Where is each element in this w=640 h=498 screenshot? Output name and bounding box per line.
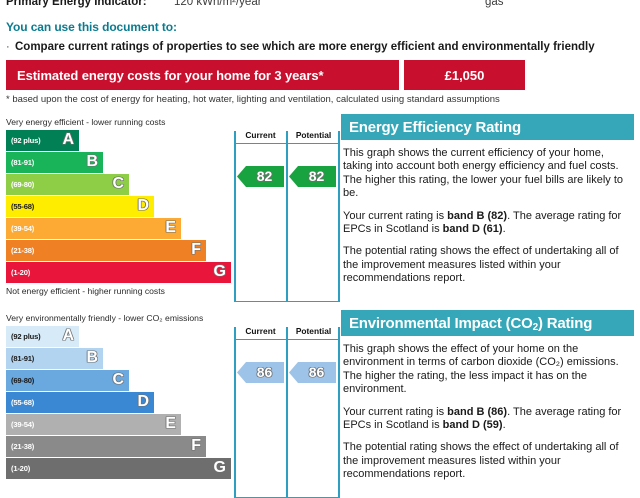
rating-band-b: (81-91)B xyxy=(6,152,103,173)
band-letter: B xyxy=(86,154,98,170)
energy-efficiency-rating-potential-value: 82 xyxy=(301,169,325,183)
energy-rating-prefix: Your current rating is xyxy=(343,210,447,222)
band-range-label: (81-91) xyxy=(11,158,34,167)
enviro-panel-paragraph-2: The potential rating shows the effect of… xyxy=(343,441,632,481)
rating-band-c: (69-80)C xyxy=(6,174,129,195)
band-range-label: (69-80) xyxy=(11,376,34,385)
rating-band-d: (55-68)D xyxy=(6,392,154,413)
band-letter: B xyxy=(86,350,98,366)
enviro-panel-title-main: Environmental Impact (CO xyxy=(349,315,533,332)
environmental-impact-co2-rating-potential-arrow: 86 xyxy=(289,362,336,383)
energy-panel-title: Energy Efficiency Rating xyxy=(349,119,521,136)
enviro-panel-paragraph-1: This graph shows the effect of your home… xyxy=(343,343,632,397)
enviro-average-band: band D (59) xyxy=(443,419,503,431)
energy-column-header-potential: Potential xyxy=(287,130,340,143)
energy-panel-header: Energy Efficiency Rating xyxy=(341,114,634,140)
band-range-label: (39-54) xyxy=(11,224,34,233)
energy-current-band: band B (82) xyxy=(447,210,507,222)
energy-panel-rating-sentence: Your current rating is band B (82). The … xyxy=(343,210,632,237)
environmental-impact-co2-rating-current-value: 86 xyxy=(249,365,273,379)
energy-column-header-current: Current xyxy=(234,130,287,143)
enviro-rating-prefix: Your current rating is xyxy=(343,406,447,418)
energy-graph-caption-bottom: Not energy efficient - higher running co… xyxy=(6,284,234,299)
band-letter: E xyxy=(165,220,176,236)
energy-panel-paragraph-1: This graph shows the current efficiency … xyxy=(343,147,632,201)
rating-band-f: (21-38)F xyxy=(6,436,206,457)
column-rule-mid xyxy=(286,131,288,301)
estimated-energy-costs-banner: Estimated energy costs for your home for… xyxy=(6,60,525,90)
band-range-label: (81-91) xyxy=(11,354,34,363)
band-range-label: (92 plus) xyxy=(11,332,40,341)
enviro-panel-title-subscript: 2 xyxy=(533,322,538,333)
estimated-energy-costs-value: £1,050 xyxy=(404,60,525,90)
energy-rating-suffix: . xyxy=(503,223,506,235)
energy-average-band: band D (61) xyxy=(443,223,503,235)
epc-page: Primary Energy Indicator: 120 kWh/m²/yea… xyxy=(0,0,640,480)
environmental-impact-co2-rating-current-arrow: 86 xyxy=(237,362,284,383)
energy-efficiency-graph: Very energy efficient - lower running co… xyxy=(6,116,234,299)
band-range-label: (1-20) xyxy=(11,464,30,473)
energy-panel-paragraph-2: The potential rating shows the effect of… xyxy=(343,245,632,285)
enviro-column-header-potential: Potential xyxy=(287,326,340,339)
environmental-impact-rating-panel: Environmental Impact (CO2) Rating This g… xyxy=(341,310,634,491)
rating-band-b: (81-91)B xyxy=(6,348,103,369)
enviro-panel-title-tail: ) Rating xyxy=(538,315,592,332)
enviro-panel-rating-sentence: Your current rating is band B (86). The … xyxy=(343,406,632,433)
band-letter: G xyxy=(214,264,226,280)
energy-graph-caption-top: Very energy efficient - lower running co… xyxy=(6,116,234,130)
energy-efficiency-rating-potential-arrow: 82 xyxy=(289,166,336,187)
band-range-label: (39-54) xyxy=(11,420,34,429)
rating-band-e: (39-54)E xyxy=(6,218,181,239)
bullet-marker-icon: · xyxy=(6,40,15,54)
rating-band-a: (92 plus)A xyxy=(6,326,79,347)
energy-efficiency-rating-panel: Energy Efficiency Rating This graph show… xyxy=(341,114,634,295)
main-fuel-value: gas xyxy=(485,0,504,8)
rating-band-d: (55-68)D xyxy=(6,196,154,217)
column-rule-right xyxy=(338,327,340,497)
enviro-column-body: 8686 xyxy=(234,339,340,498)
energy-column-body: 8282 xyxy=(234,143,340,302)
band-range-label: (1-20) xyxy=(11,268,30,277)
column-rule-left xyxy=(234,131,236,301)
column-rule-left xyxy=(234,327,236,497)
band-letter: A xyxy=(62,328,74,344)
column-rule-right xyxy=(338,131,340,301)
band-range-label: (69-80) xyxy=(11,180,34,189)
estimated-energy-costs-label: Estimated energy costs for your home for… xyxy=(6,60,399,90)
rating-band-g: (1-20)G xyxy=(6,262,231,283)
band-letter: F xyxy=(191,438,201,454)
energy-graph-columns: Current Potential 8282 xyxy=(234,130,340,302)
enviro-panel-title: Environmental Impact (CO2) Rating xyxy=(349,315,592,332)
rating-band-g: (1-20)G xyxy=(6,458,231,479)
band-range-label: (55-68) xyxy=(11,398,34,407)
energy-graph-bars: (92 plus)A(81-91)B(69-80)C(55-68)D(39-54… xyxy=(6,130,234,283)
primary-energy-indicator-label: Primary Energy Indicator: xyxy=(6,0,147,8)
enviro-current-band: band B (86) xyxy=(447,406,507,418)
energy-efficiency-rating-current-value: 82 xyxy=(249,169,273,183)
environmental-impact-co2-rating-potential-value: 86 xyxy=(301,365,325,379)
use-document-heading: You can use this document to: xyxy=(6,20,177,34)
band-letter: A xyxy=(62,132,74,148)
band-letter: D xyxy=(137,394,149,410)
enviro-graph-columns: Current Potential 8686 xyxy=(234,326,340,498)
column-rule-mid xyxy=(286,327,288,497)
energy-panel-body: This graph shows the current efficiency … xyxy=(341,140,634,286)
band-range-label: (21-38) xyxy=(11,442,34,451)
rating-band-e: (39-54)E xyxy=(6,414,181,435)
enviro-rating-suffix: . xyxy=(503,419,506,431)
rating-band-a: (92 plus)A xyxy=(6,130,79,151)
band-letter: E xyxy=(165,416,176,432)
band-letter: D xyxy=(137,198,149,214)
environmental-impact-graph: Very environmentally friendly - lower CO… xyxy=(6,312,234,480)
enviro-panel-body: This graph shows the effect of your home… xyxy=(341,336,634,482)
enviro-graph-bars: (92 plus)A(81-91)B(69-80)C(55-68)D(39-54… xyxy=(6,326,234,479)
band-range-label: (55-68) xyxy=(11,202,34,211)
enviro-graph-caption-top: Very environmentally friendly - lower CO… xyxy=(6,312,234,326)
band-range-label: (21-38) xyxy=(11,246,34,255)
band-range-label: (92 plus) xyxy=(11,136,40,145)
primary-energy-indicator-row: Primary Energy Indicator: 120 kWh/m²/yea… xyxy=(6,0,634,14)
rating-band-f: (21-38)F xyxy=(6,240,206,261)
enviro-panel-header: Environmental Impact (CO2) Rating xyxy=(341,310,634,336)
band-letter: C xyxy=(112,176,124,192)
band-letter: F xyxy=(191,242,201,258)
energy-efficiency-rating-current-arrow: 82 xyxy=(237,166,284,187)
use-document-bullet-item: · Compare current ratings of properties … xyxy=(6,40,636,54)
primary-energy-indicator-value: 120 kWh/m²/year xyxy=(174,0,262,8)
band-letter: C xyxy=(112,372,124,388)
enviro-column-header-current: Current xyxy=(234,326,287,339)
rating-band-c: (69-80)C xyxy=(6,370,129,391)
band-letter: G xyxy=(214,460,226,476)
estimated-energy-costs-footnote: * based upon the cost of energy for heat… xyxy=(6,94,500,105)
use-document-bullet-text: Compare current ratings of properties to… xyxy=(15,40,595,54)
